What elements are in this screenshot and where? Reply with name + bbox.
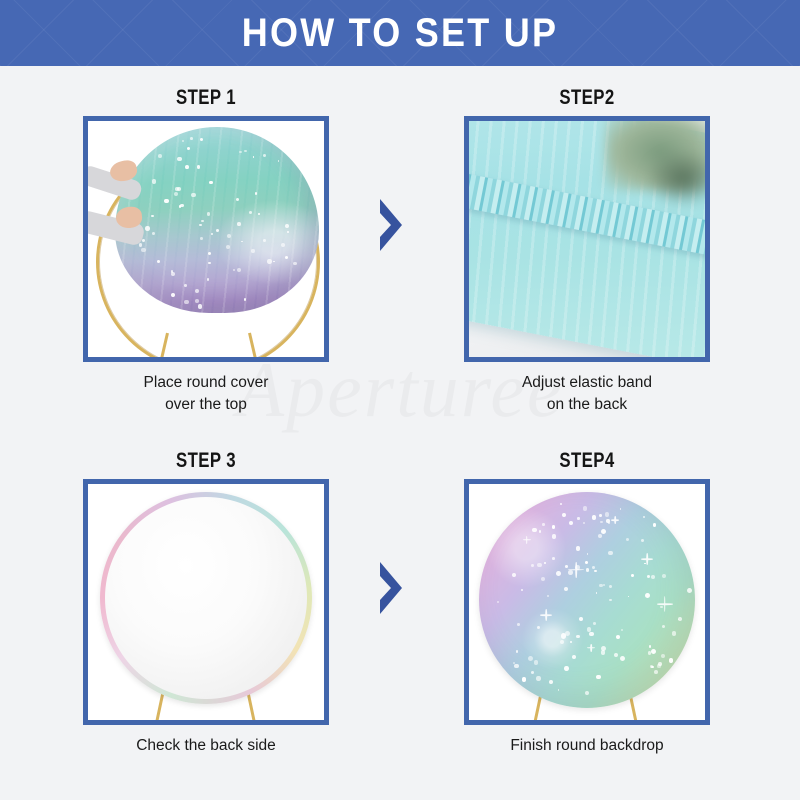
finished-backdrop-leg-left [531,696,542,720]
step-image-frame-4 [464,479,710,725]
step-image-frame-1 [83,116,329,362]
step-caption-2-line-2: on the back [437,394,737,416]
step-photo-3 [88,484,324,720]
step-caption-3-line-1: Check the back side [56,735,356,757]
chevron-right-icon-row2 [378,562,404,614]
backdrop-star-field [479,492,695,708]
step-title-3: STEP 3 [108,447,305,475]
step-caption-1-line-2: over the top [56,394,356,416]
step-caption-4: Finish round backdrop [437,735,737,757]
step-title-1: STEP 1 [108,84,305,112]
fabric-folds [115,127,319,313]
step-caption-2-line-1: Adjust elastic band [437,372,737,394]
background-blur-green-dark [647,151,705,205]
step-caption-3: Check the back side [56,735,356,757]
step-title-2: STEP2 [489,84,686,112]
starry-cover-fabric [115,127,319,313]
backdrop-back-panel [105,497,307,699]
step-photo-4 [469,484,705,720]
step-title-4: STEP4 [489,447,686,475]
step-caption-1: Place round cover over the top [56,372,356,417]
step-photo-1 [88,121,324,357]
chevron-right-icon-row1 [378,199,404,251]
step-caption-2: Adjust elastic band on the back [437,372,737,417]
backdrop-back-side [100,492,312,704]
step-caption-4-line-1: Finish round backdrop [437,735,737,757]
step-caption-1-line-1: Place round cover [56,372,356,394]
header-banner: HOW TO SET UP [0,0,800,66]
step-photo-2 [469,121,705,357]
step-image-frame-3 [83,479,329,725]
step-image-frame-2 [464,116,710,362]
finished-backdrop-leg-right [629,696,640,720]
finished-round-backdrop [479,492,695,708]
page-title: HOW TO SET UP [40,0,760,66]
